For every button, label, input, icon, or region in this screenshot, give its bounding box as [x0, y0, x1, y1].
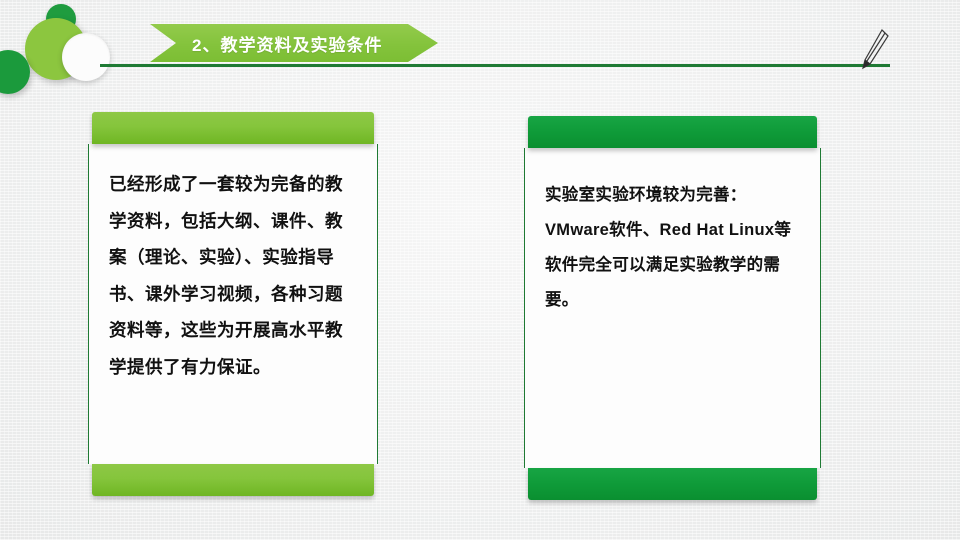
title-underline-rule — [100, 64, 890, 67]
circle-white-decoration — [62, 33, 110, 81]
section-title-text: 2、教学资料及实验条件 — [192, 31, 382, 56]
section-title-banner: 2、教学资料及实验条件 — [150, 24, 438, 62]
pencil-icon — [856, 24, 896, 74]
card-body: 实验室实验环境较为完善：VMware软件、Red Hat Linux等软件完全可… — [524, 148, 821, 468]
card-bottom-bar — [92, 464, 374, 496]
card-body-text: 已经形成了一套较为完备的教学资料，包括大纲、课件、教案（理论、实验）、实验指导书… — [109, 166, 357, 385]
card-body: 已经形成了一套较为完备的教学资料，包括大纲、课件、教案（理论、实验）、实验指导书… — [88, 144, 378, 464]
card-bottom-bar — [528, 468, 817, 500]
slide-canvas: 2、教学资料及实验条件 已经形成了一套较为完备的教学资料，包括大纲、课件、教案（… — [0, 0, 960, 540]
card-top-bar — [92, 112, 374, 144]
card-lab-conditions: 实验室实验环境较为完善：VMware软件、Red Hat Linux等软件完全可… — [524, 116, 821, 500]
card-teaching-materials: 已经形成了一套较为完备的教学资料，包括大纲、课件、教案（理论、实验）、实验指导书… — [88, 112, 378, 496]
card-top-bar — [528, 116, 817, 148]
card-body-text: 实验室实验环境较为完善：VMware软件、Red Hat Linux等软件完全可… — [545, 178, 800, 318]
